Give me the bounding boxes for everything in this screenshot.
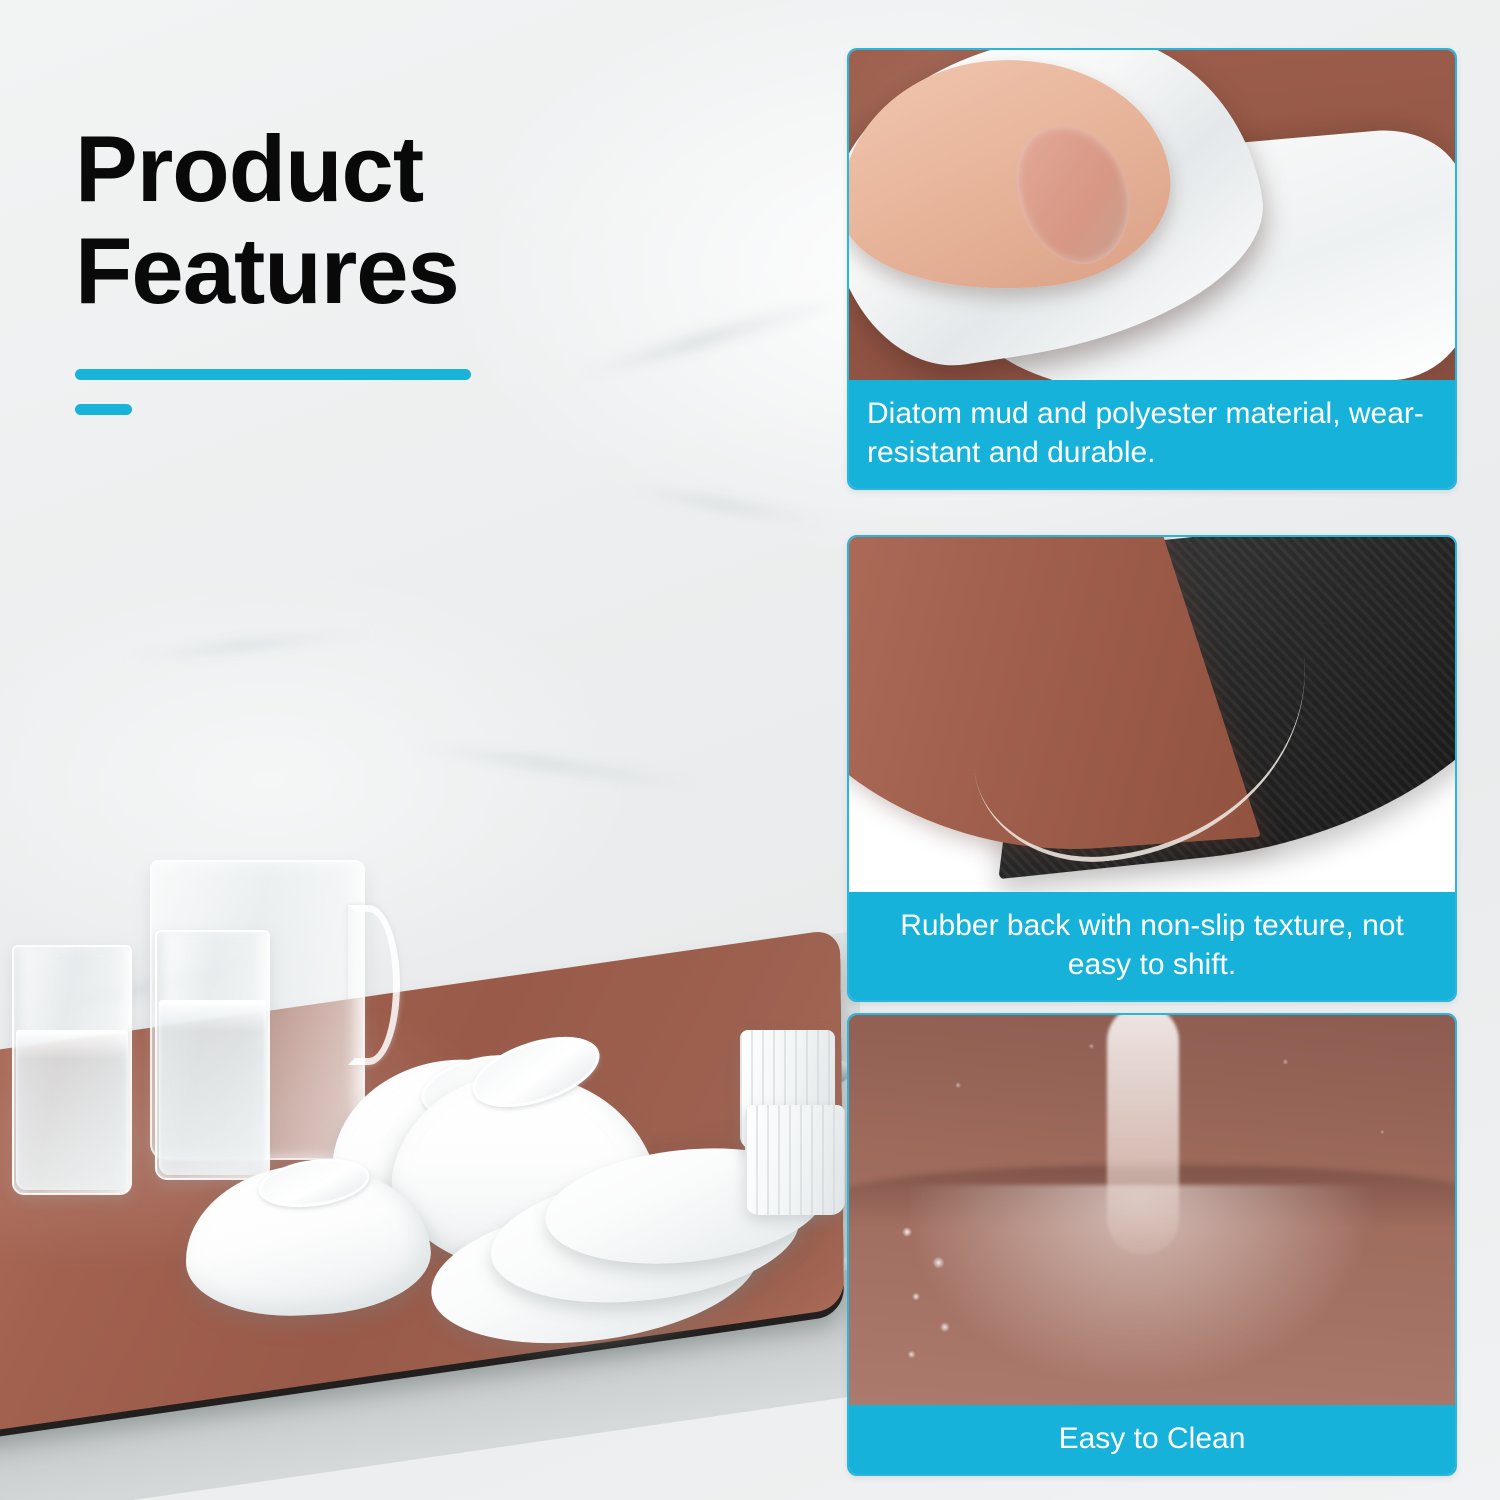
glass-water <box>159 1000 266 1175</box>
feature-caption-material: Diatom mud and polyester material, wear-… <box>849 380 1455 488</box>
feature-panel-easy-clean: Easy to Clean <box>847 1013 1457 1476</box>
fluted-cup <box>745 1105 845 1215</box>
page-title: Product Features <box>75 118 735 321</box>
water-bubbles <box>889 1215 979 1385</box>
marble-vein <box>401 738 720 794</box>
feature-photo-easy-clean <box>849 1015 1455 1405</box>
title-underline-long <box>75 369 471 380</box>
water-glass <box>12 945 132 1195</box>
feature-panel-non-slip: Rubber back with non-slip texture, not e… <box>847 535 1457 1002</box>
feature-caption-non-slip: Rubber back with non-slip texture, not e… <box>849 892 1455 1000</box>
feature-photo-non-slip <box>849 537 1455 892</box>
thumbnail <box>994 106 1153 281</box>
marble-vein <box>120 626 380 663</box>
glass-water <box>16 1030 128 1190</box>
feature-caption-easy-clean: Easy to Clean <box>849 1405 1455 1474</box>
page-title-line-1: Product <box>75 118 735 220</box>
page-header: Product Features <box>75 118 735 415</box>
feature-panel-material: Diatom mud and polyester material, wear-… <box>847 48 1457 490</box>
water-glass <box>155 930 270 1180</box>
title-underline-short <box>75 404 132 415</box>
water-stream <box>1107 1015 1179 1255</box>
feature-photo-material <box>849 50 1455 380</box>
marble-vein <box>621 481 840 531</box>
page-title-line-2: Features <box>75 220 735 322</box>
